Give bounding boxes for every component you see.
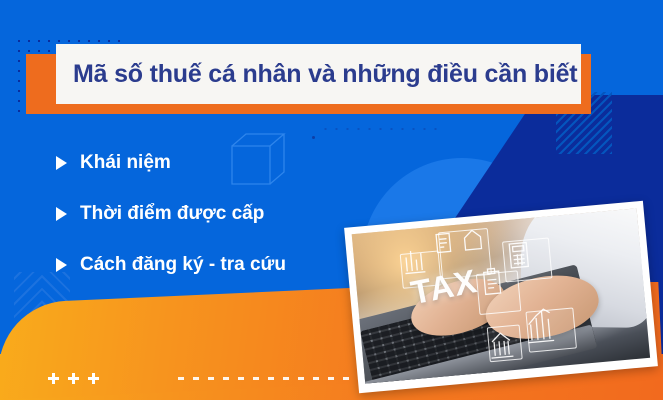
- slide-canvas: Mã số thuế cá nhân và những điều cần biế…: [0, 0, 663, 400]
- calculator-icon: [509, 242, 528, 267]
- list-item[interactable]: Thời điểm được cấp: [56, 203, 376, 225]
- page-title: Mã số thuế cá nhân và những điều cần biế…: [73, 44, 573, 104]
- plus-icon: [48, 373, 59, 384]
- dashed-line: [178, 377, 368, 380]
- hud-icon-group: [352, 208, 650, 383]
- decor-dot: [312, 136, 315, 139]
- caret-right-icon: [56, 258, 67, 272]
- list-item-label: Cách đăng ký - tra cứu: [80, 254, 286, 276]
- list-item[interactable]: Khái niệm: [56, 152, 376, 174]
- list-item-label: Khái niệm: [80, 152, 171, 174]
- topic-list: Khái niệm Thời điểm được cấp Cách đăng k…: [56, 152, 376, 305]
- plus-marks: [48, 373, 99, 384]
- plus-icon: [68, 373, 79, 384]
- clipboard-icon: [483, 268, 500, 294]
- list-item-label: Thời điểm được cấp: [80, 203, 264, 225]
- photo-frame: TAX: [344, 201, 658, 394]
- title-banner: Mã số thuế cá nhân và những điều cần biế…: [16, 44, 591, 114]
- caret-right-icon: [56, 207, 67, 221]
- caret-right-icon: [56, 156, 67, 170]
- laptop-photo: TAX: [352, 208, 650, 383]
- list-item[interactable]: Cách đăng ký - tra cứu: [56, 254, 376, 276]
- dotted-line: [320, 127, 438, 131]
- growth-chart-icon: [525, 308, 554, 342]
- house-icon: [464, 230, 482, 250]
- bar-chart-icon: [403, 250, 425, 274]
- plus-icon: [88, 373, 99, 384]
- bank-icon: [489, 332, 513, 358]
- document-icon: [436, 233, 451, 252]
